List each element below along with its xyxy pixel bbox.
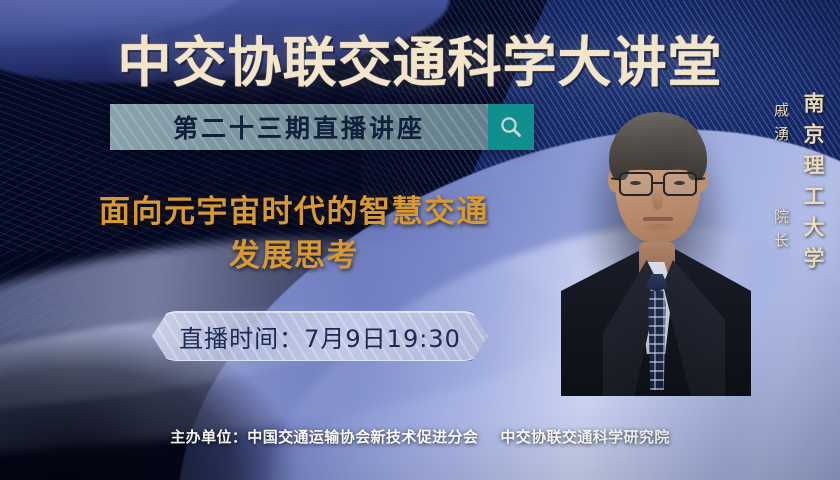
portrait-nose xyxy=(652,188,663,210)
footer-prefix: 主办单位： xyxy=(170,428,247,446)
livestream-poster: 中交协联交通科学大讲堂 第二十三期直播讲座 面向元宇宙时代的智慧交通 发展思考 … xyxy=(0,0,840,480)
speaker-name: 戚湧 xyxy=(772,102,790,150)
episode-bar-body: 第二十三期直播讲座 xyxy=(110,104,488,150)
portrait-glasses-bridge xyxy=(653,182,663,184)
lecture-title-line-1: 面向元宇宙时代的智慧交通 xyxy=(99,194,489,230)
broadcast-time-pill: 直播时间：7月9日19:30 xyxy=(152,311,488,361)
footer-organizer-2: 中交协联交通科学研究院 xyxy=(500,428,669,446)
speaker-role: 院长 xyxy=(772,208,790,256)
lecture-title: 面向元宇宙时代的智慧交通 发展思考 xyxy=(34,190,554,278)
portrait-glasses-lens-right xyxy=(663,172,697,196)
footer-organizer-1: 中国交通运输协会新技术促进分会 xyxy=(247,428,478,446)
speaker-organization: 南京理工大学 xyxy=(798,92,828,278)
search-icon xyxy=(498,114,524,140)
portrait-mouth xyxy=(643,217,673,221)
speaker-portrait xyxy=(567,84,743,384)
broadcast-time-label: 直播时间：7月9日19:30 xyxy=(179,319,461,354)
search-icon-box[interactable] xyxy=(488,104,534,150)
portrait-glasses-lens-left xyxy=(619,172,653,196)
footer: 主办单位：中国交通运输协会新技术促进分会中交协联交通科学研究院 xyxy=(0,426,840,447)
speaker-name-role: 戚湧 院长 xyxy=(771,102,792,256)
main-title: 中交协联交通科学大讲堂 xyxy=(0,18,840,97)
portrait-chin xyxy=(637,224,679,238)
episode-bar[interactable]: 第二十三期直播讲座 xyxy=(110,104,534,150)
speaker-credits: 戚湧 院长 南京理工大学 xyxy=(771,92,828,278)
lecture-title-line-2: 发展思考 xyxy=(34,234,554,278)
episode-label: 第二十三期直播讲座 xyxy=(173,109,425,145)
